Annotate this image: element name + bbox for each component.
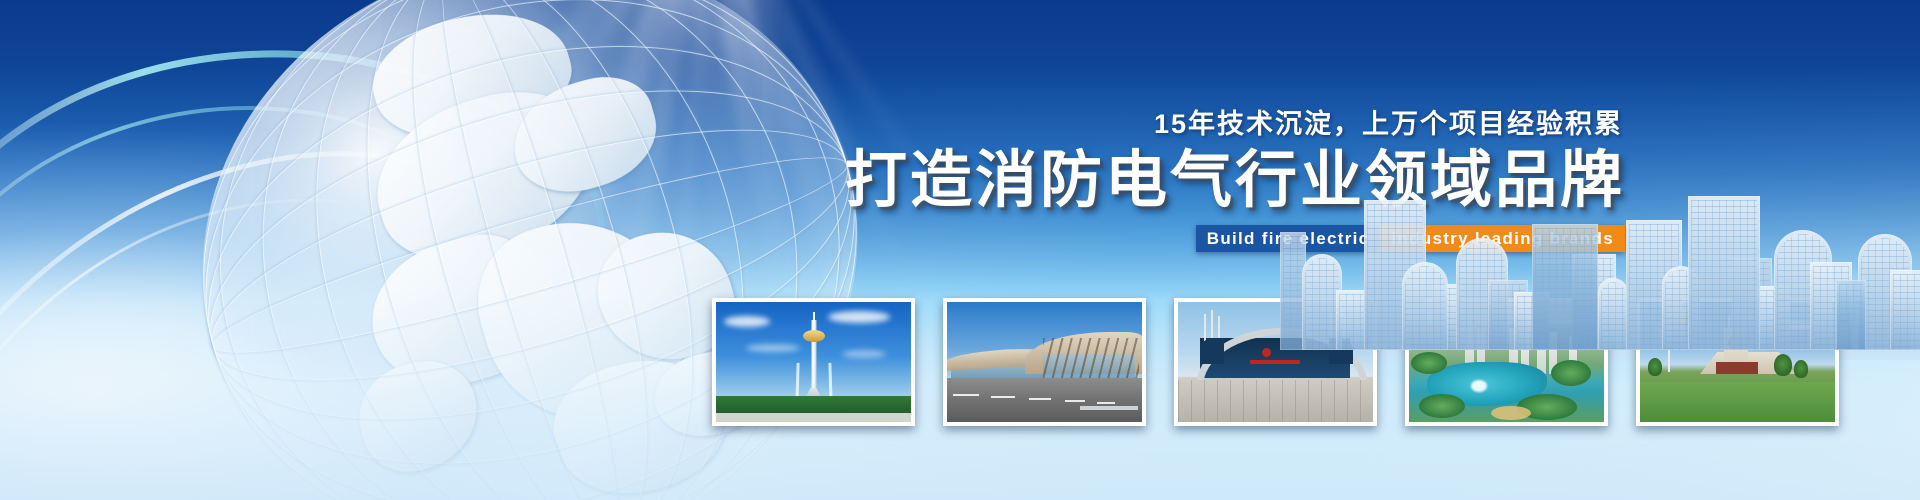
hero-banner: 15年技术沉淀，上万个项目经验积累 打造消防电气行业领域品牌 Build fir… (0, 0, 1920, 500)
tv-tower-photo[interactable] (712, 298, 915, 426)
skyline-building (1532, 224, 1598, 350)
skyline-building (1890, 270, 1920, 350)
skyline-building (1598, 278, 1628, 350)
airport-terminal-photo[interactable] (943, 298, 1146, 426)
banner-subheadline: 15年技术沉淀，上万个项目经验积累 (805, 108, 1625, 140)
skyline-building (1402, 262, 1448, 350)
tv-tower-image (716, 302, 911, 422)
skyline-building (1688, 196, 1760, 350)
banner-headline: 打造消防电气行业领域品牌 (805, 148, 1625, 215)
skyline-building (1836, 280, 1866, 350)
airport-terminal-image (947, 302, 1142, 422)
banner-copy: 15年技术沉淀，上万个项目经验积累 打造消防电气行业领域品牌 Build fir… (805, 108, 1625, 252)
